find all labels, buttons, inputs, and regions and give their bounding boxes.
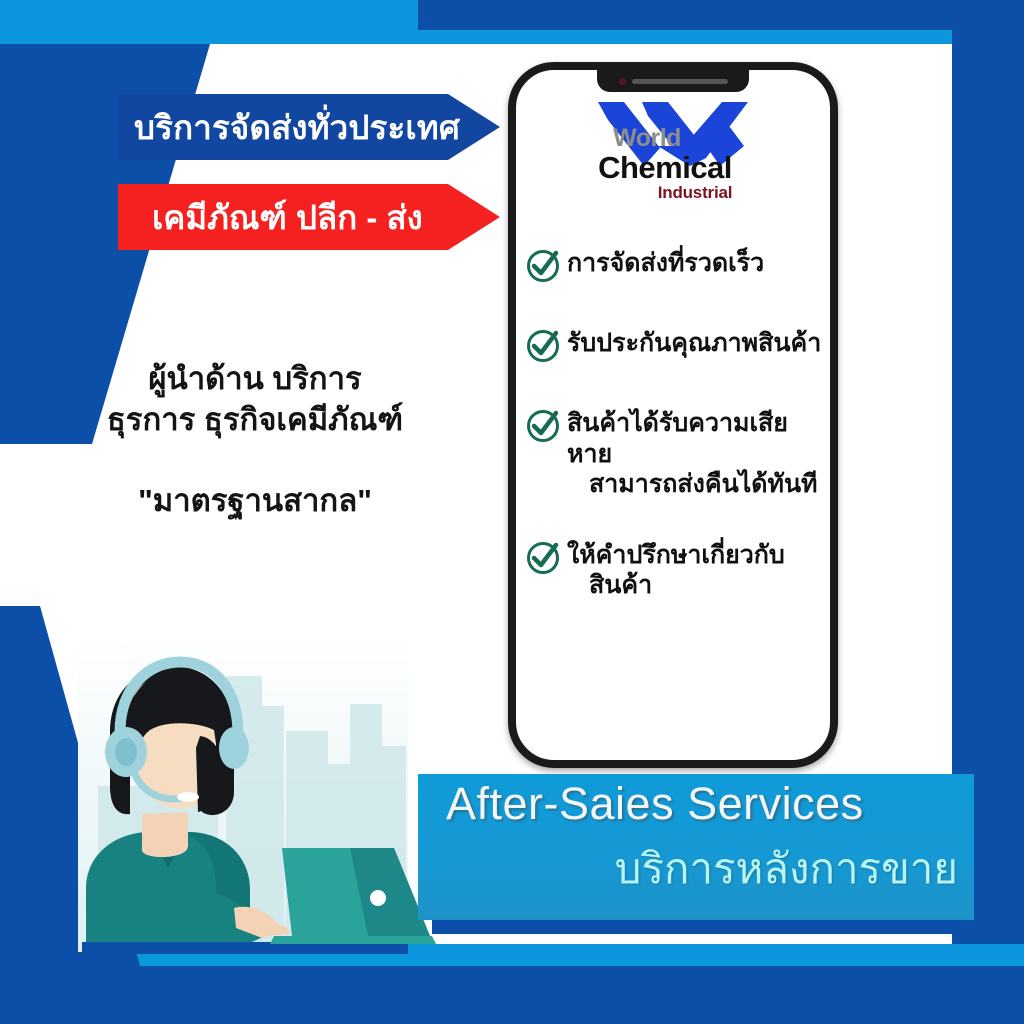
tagline-block: ผู้นำด้าน บริการ ธุรการ ธุรกิจเคมีภัณฑ์ … <box>40 358 470 522</box>
brand-logo: World Chemical Industrial <box>516 96 830 201</box>
list-item-line-2: สามารถส่งคืนได้ทันที <box>567 469 824 500</box>
banner-chemicals-retail-wholesale: เคมีภัณฑ์ ปลีก - ส่ง <box>118 184 500 250</box>
logo-industrial-text: Industrial <box>628 184 762 201</box>
list-item-text: ให้คำปรึกษาเกี่ยวกับ สินค้า <box>567 540 785 601</box>
bottom-banner-thai: บริการหลังการขาย <box>615 836 958 902</box>
call-center-agent-illustration <box>38 636 438 966</box>
check-circle-icon <box>526 329 560 368</box>
benefits-checklist: การจัดส่งที่รวดเร็ว รับประกันคุณภาพสินค้… <box>526 248 824 641</box>
list-item-line-1: รับประกันคุณภาพสินค้า <box>567 329 821 357</box>
tagline-line-2: ธุรการ ธุรกิจเคมีภัณฑ์ <box>40 399 470 440</box>
list-item-line-1: ให้คำปรึกษาเกี่ยวกับ <box>567 541 785 569</box>
tagline-quote: "มาตรฐานสากล" <box>40 480 470 521</box>
banner-nationwide-delivery-label: บริการจัดส่งทั่วประเทศ <box>134 101 460 154</box>
list-item: การจัดส่งที่รวดเร็ว <box>526 248 824 288</box>
logo-chemical-text: Chemical <box>598 152 732 183</box>
list-item: รับประกันคุณภาพสินค้า <box>526 328 824 368</box>
list-item-line-2: สินค้า <box>567 570 785 601</box>
logo-world-text: World <box>580 126 714 151</box>
poster-canvas: บริการจัดส่งทั่วประเทศ เคมีภัณฑ์ ปลีก - … <box>0 0 1024 1024</box>
tagline-line-1: ผู้นำด้าน บริการ <box>40 358 470 399</box>
logo-wordmark: World Chemical Industrial <box>606 126 740 201</box>
top-dark-blue-strip <box>418 0 1024 30</box>
speaker-grille-icon <box>632 79 728 84</box>
list-item-text: การจัดส่งที่รวดเร็ว <box>567 248 764 279</box>
check-circle-icon <box>526 249 560 288</box>
list-item: ให้คำปรึกษาเกี่ยวกับ สินค้า <box>526 540 824 601</box>
check-circle-icon <box>526 541 560 580</box>
list-item-line-1: การจัดส่งที่รวดเร็ว <box>567 249 764 277</box>
check-circle-icon <box>526 409 560 448</box>
bottom-banner: After-Saies Services บริการหลังการขาย <box>418 774 974 920</box>
banner-nationwide-delivery: บริการจัดส่งทั่วประเทศ <box>118 94 500 160</box>
bottom-dark-blue-border <box>0 966 1024 1024</box>
list-item-text: รับประกันคุณภาพสินค้า <box>567 328 821 359</box>
banner-chemicals-retail-wholesale-label: เคมีภัณฑ์ ปลีก - ส่ง <box>152 191 423 244</box>
list-item-text: สินค้าได้รับความเสียหาย สามารถส่งคืนได้ท… <box>567 408 824 500</box>
phone-notch <box>597 70 749 92</box>
list-item-line-1: สินค้าได้รับความเสียหาย <box>567 409 788 468</box>
phone-mockup: World Chemical Industrial การจัดส่งที่รว… <box>508 62 838 768</box>
camera-dot-icon <box>619 78 626 85</box>
list-item: สินค้าได้รับความเสียหาย สามารถส่งคืนได้ท… <box>526 408 824 500</box>
bottom-banner-english: After-Saies Services <box>446 778 864 830</box>
